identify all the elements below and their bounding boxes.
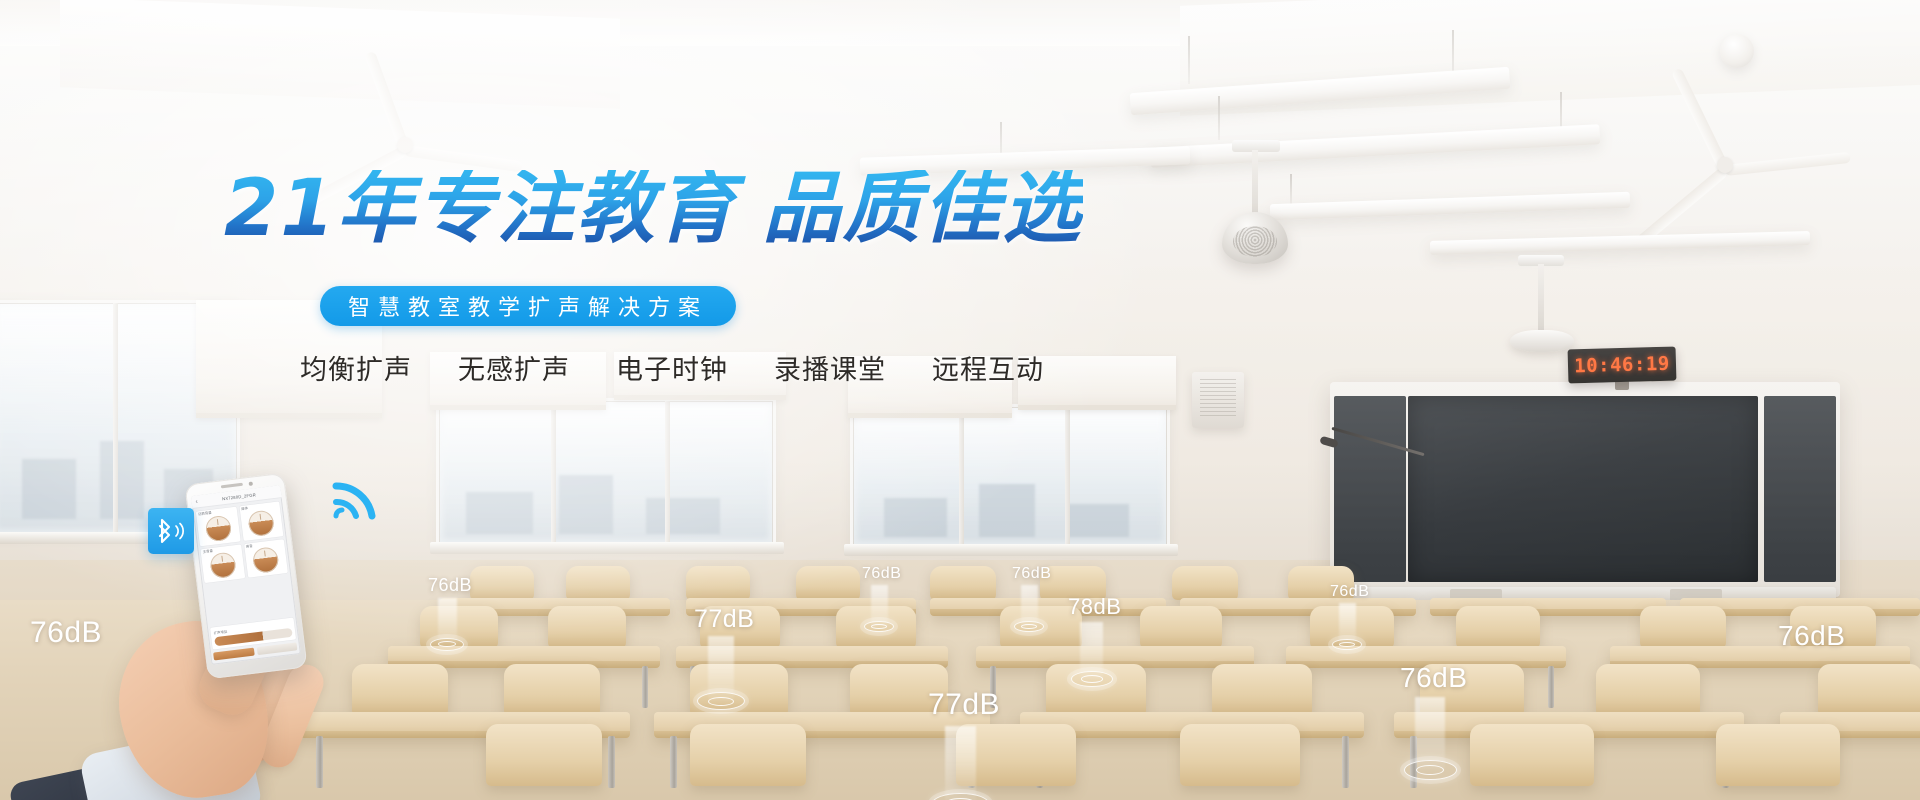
chair — [504, 664, 600, 716]
chair — [836, 606, 916, 648]
chair — [1310, 606, 1394, 648]
volume-knob[interactable] — [252, 546, 280, 574]
ceiling-fan-right — [1600, 128, 1850, 202]
feature-item-1[interactable]: 均衡扩声 — [300, 348, 412, 387]
volume-knob[interactable] — [209, 552, 237, 580]
phone-body: ‹ NX7280D_2FGR 话筒音量媒体主音量高音 扩声增益 — [184, 473, 307, 680]
chair — [956, 724, 1076, 786]
db-reading-3: 77dB — [694, 605, 754, 634]
wifi-signal-icon — [328, 462, 390, 524]
headline-part-1: 21年专注教育 — [224, 164, 737, 254]
app-control-card[interactable]: 话筒音量 — [196, 507, 240, 546]
flush-ceiling-light — [1720, 34, 1754, 68]
lamp-wire — [1218, 96, 1220, 140]
desk-leg — [1410, 736, 1417, 788]
blackboard-display — [1408, 396, 1758, 582]
feature-item-2[interactable]: 无感扩声 — [458, 348, 570, 387]
volume-knob[interactable] — [247, 509, 275, 537]
app-control-card[interactable]: 高音 — [244, 539, 288, 578]
headline-part-2: 品质佳选 — [763, 164, 1083, 254]
desk-leg — [1342, 736, 1349, 788]
lamp-wire — [1188, 36, 1190, 84]
volume-knob[interactable] — [204, 514, 232, 542]
phone-screen[interactable]: ‹ NX7280D_2FGR 话筒音量媒体主音量高音 扩声增益 — [191, 485, 301, 665]
app-secondary-button[interactable] — [256, 642, 297, 655]
chair — [1456, 606, 1540, 648]
chair — [1212, 664, 1312, 716]
desk-leg — [670, 736, 677, 788]
db-reading-5: 76dB — [1012, 565, 1051, 583]
desk-leg — [642, 666, 648, 708]
app-control-grid: 话筒音量媒体主音量高音 — [192, 498, 296, 628]
app-card-title: 话筒音量 — [198, 512, 212, 517]
clock-time: 10:46:19 — [1574, 353, 1670, 378]
blackboard-wing-left — [1334, 396, 1406, 582]
blackboard-wing-right — [1764, 396, 1836, 582]
chevron-left-icon[interactable]: ‹ — [195, 498, 198, 505]
subtitle-pill[interactable]: 智慧教室教学扩声解决方案 — [320, 286, 736, 326]
db-reading-7: 77dB — [928, 688, 1000, 722]
window-sill — [844, 544, 1178, 556]
speaker-pole — [1538, 264, 1544, 334]
clock-mount — [1615, 381, 1629, 390]
chair — [1172, 566, 1238, 600]
blackboard — [1330, 382, 1840, 597]
db-reading-10: 76dB — [1778, 620, 1845, 652]
chair — [566, 566, 630, 600]
feature-list: 均衡扩声无感扩声电子时钟录播课堂远程互动 — [300, 348, 1044, 387]
lamp-wire — [1290, 174, 1292, 204]
desk-leg — [608, 736, 615, 788]
chair — [930, 566, 996, 600]
wall-control-box — [1192, 372, 1244, 428]
speaker-pole — [1252, 150, 1258, 216]
subtitle-pill-label: 智慧教室教学扩声解决方案 — [348, 290, 708, 322]
chair — [686, 566, 750, 600]
feature-item-4[interactable]: 录播课堂 — [774, 348, 886, 387]
chair — [1180, 724, 1300, 786]
window-middle — [436, 398, 776, 546]
chair — [548, 606, 626, 648]
electronic-clock: 10:46:19 — [1568, 346, 1677, 383]
ceiling-disc-speaker — [1510, 330, 1574, 352]
chair — [1140, 606, 1222, 648]
chair — [796, 566, 860, 600]
chair — [470, 566, 534, 600]
app-primary-button[interactable] — [213, 648, 254, 661]
db-reading-4: 76dB — [862, 565, 901, 583]
chair — [1716, 724, 1840, 786]
app-card-title: 高音 — [246, 545, 253, 550]
chair — [486, 724, 602, 786]
phone-earpiece — [221, 483, 243, 489]
bluetooth-icon — [148, 508, 194, 554]
app-control-card[interactable]: 媒体 — [239, 501, 283, 540]
banner-stage: 10:46:19 — [0, 0, 1920, 800]
chair — [690, 664, 788, 716]
app-control-card[interactable]: 主音量 — [200, 544, 244, 583]
db-reading-6: 78dB — [1068, 594, 1121, 620]
chair — [1596, 664, 1700, 716]
phone-front-camera — [249, 481, 253, 485]
feature-item-3[interactable]: 电子时钟 — [616, 348, 728, 387]
db-reading-2: 76dB — [428, 575, 472, 596]
db-reading-1: 76dB — [30, 616, 102, 650]
chair — [1818, 664, 1920, 716]
feature-item-5[interactable]: 远程互动 — [932, 348, 1044, 387]
window-sill — [430, 542, 784, 554]
db-reading-9: 76dB — [1400, 662, 1467, 694]
page-title: 21年专注教育品质佳选 — [224, 170, 1083, 248]
app-card-title: 主音量 — [203, 550, 214, 555]
desk-leg — [1548, 666, 1554, 708]
chair — [1640, 606, 1726, 648]
db-reading-8: 76dB — [1330, 583, 1369, 601]
app-card-title: 媒体 — [241, 507, 248, 512]
chair — [690, 724, 806, 786]
chair — [1046, 664, 1146, 716]
smartphone[interactable]: ‹ NX7280D_2FGR 话筒音量媒体主音量高音 扩声增益 — [196, 478, 296, 674]
chair — [420, 606, 498, 648]
window-right — [850, 404, 1170, 548]
chair — [1470, 724, 1594, 786]
